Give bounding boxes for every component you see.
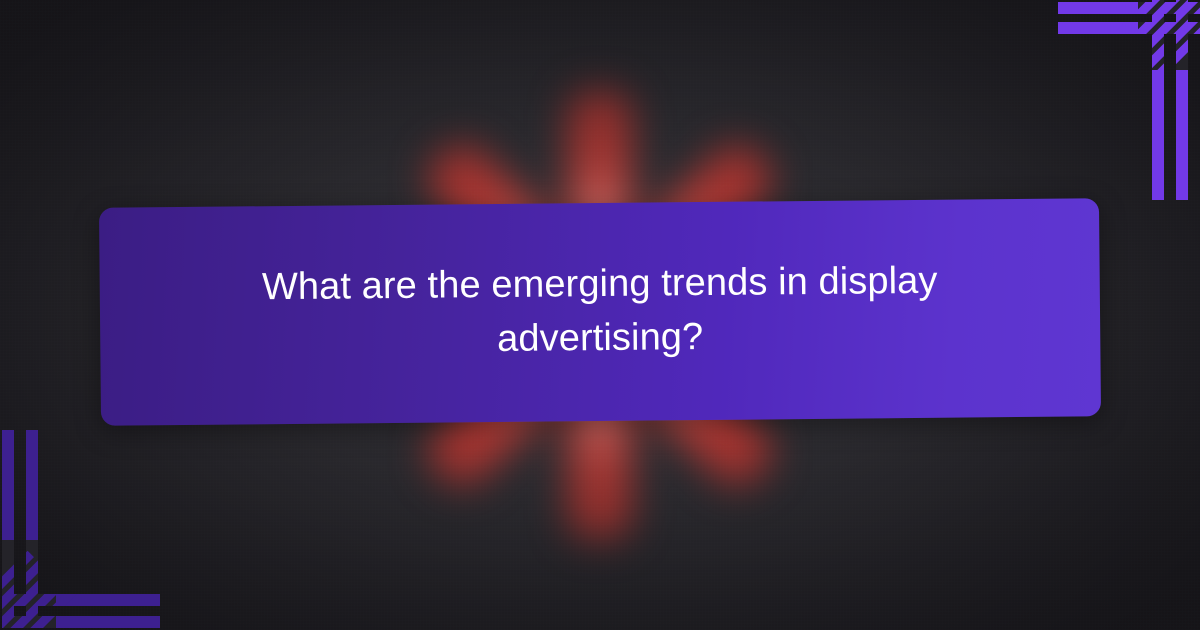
headline-card: What are the emerging trends in display …: [100, 203, 1100, 421]
headline-card-surface: What are the emerging trends in display …: [99, 198, 1101, 426]
page-title: What are the emerging trends in display …: [219, 254, 980, 369]
headline-card-content: What are the emerging trends in display …: [99, 198, 1101, 426]
social-card-canvas: What are the emerging trends in display …: [0, 0, 1200, 630]
